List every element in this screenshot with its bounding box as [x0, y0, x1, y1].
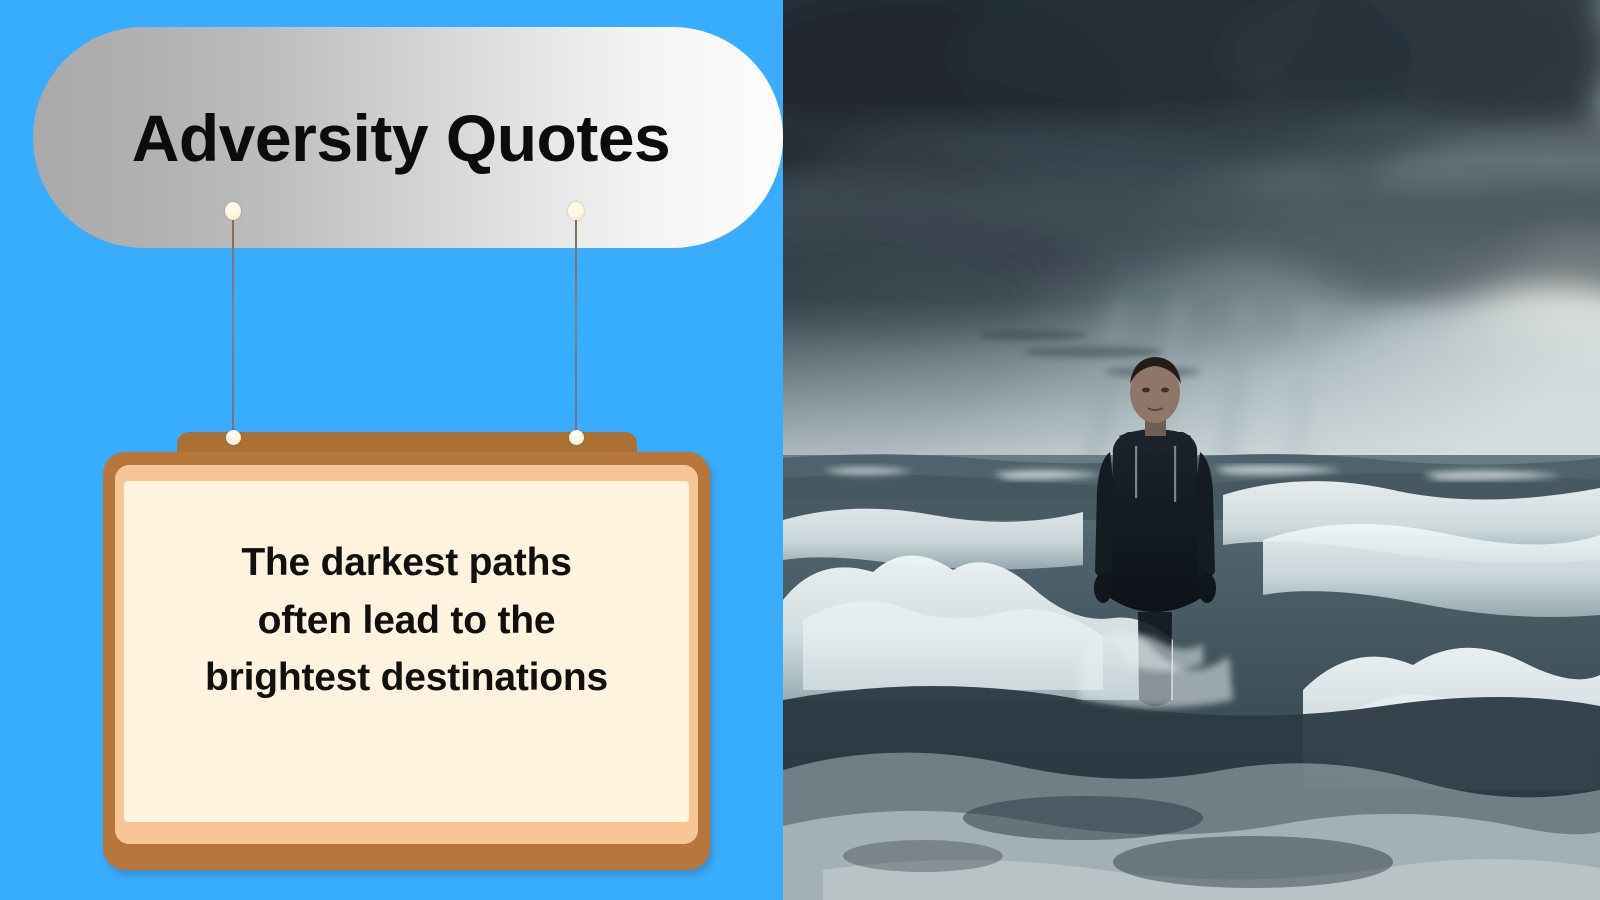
- poster-canvas: Adversity Quotes The darkest paths often…: [0, 0, 1600, 900]
- hanging-string-right: [575, 210, 577, 444]
- pin-icon-bottom-right: [569, 430, 584, 445]
- quote-line-1: The darkest paths: [124, 534, 689, 592]
- quote-card-inner-border: The darkest paths often lead to the brig…: [115, 465, 698, 844]
- pin-icon-top-left: [225, 202, 241, 220]
- quote-card: The darkest paths often lead to the brig…: [103, 452, 710, 870]
- left-blue-panel: Adversity Quotes The darkest paths often…: [0, 0, 783, 900]
- quote-text: The darkest paths often lead to the brig…: [124, 534, 689, 707]
- page-title: Adversity Quotes: [33, 105, 783, 171]
- quote-paper-panel: The darkest paths often lead to the brig…: [124, 481, 689, 822]
- stormy-ocean-photo: [783, 0, 1600, 900]
- pin-icon-bottom-left: [226, 430, 241, 445]
- quote-line-2: often lead to the: [124, 592, 689, 650]
- hanging-string-left: [232, 210, 234, 444]
- pin-icon-top-right: [568, 202, 584, 220]
- title-plaque: Adversity Quotes: [33, 27, 783, 248]
- quote-line-3: brightest destinations: [124, 649, 689, 707]
